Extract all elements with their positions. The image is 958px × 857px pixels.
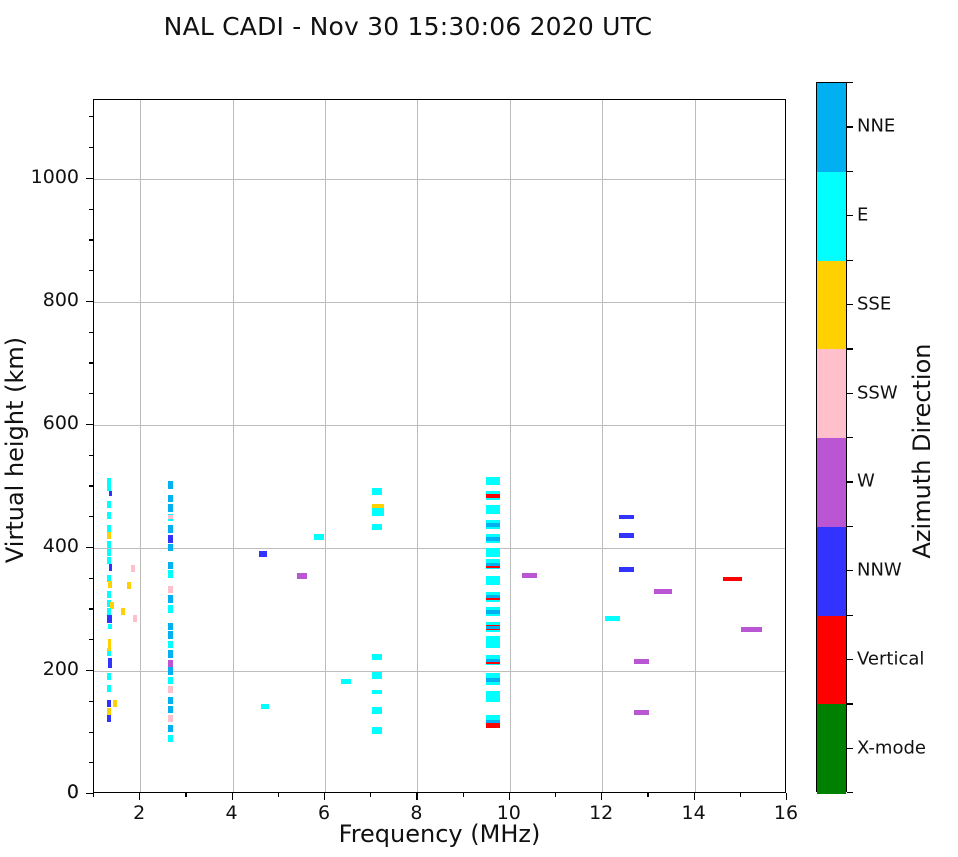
gridline-horizontal [94,179,785,180]
data-mark [107,673,111,680]
data-mark [372,508,384,516]
data-mark [619,533,634,538]
data-mark [723,577,742,581]
colorbar-tick [847,126,853,127]
data-mark [107,615,113,623]
gridline-vertical [602,100,603,792]
colorbar-label: E [857,205,868,226]
gridline-vertical [325,100,326,792]
data-mark [168,677,173,684]
y-tick-minor [89,639,93,640]
data-mark [634,710,649,715]
data-mark [261,704,269,709]
colorbar-segment [817,349,846,438]
data-mark [168,650,173,658]
data-mark [619,515,634,519]
gridline-vertical [233,100,234,792]
data-mark [168,504,173,512]
x-tick [601,793,602,800]
colorbar-label: SSE [857,293,891,314]
x-tick [509,793,510,800]
y-tick-minor [89,608,93,609]
y-tick [86,301,93,302]
x-tick-minor [93,793,94,797]
data-mark [486,537,500,541]
colorbar-tick [847,748,853,749]
colorbar-segment [817,83,846,172]
colorbar-segment [817,438,846,527]
y-tick-label: 600 [43,412,79,434]
data-mark [168,515,173,519]
data-mark [486,626,500,629]
x-tick [324,793,325,800]
data-mark [486,610,500,614]
data-mark [133,615,137,622]
data-mark [619,567,634,572]
colorbar[interactable] [816,82,847,792]
data-mark [486,678,500,682]
data-mark [109,564,113,571]
x-tick-minor [278,793,279,797]
data-mark [107,715,111,722]
x-tick [232,793,233,800]
colorbar-boundary-tick [847,260,853,261]
data-mark [372,654,382,660]
data-mark [259,551,267,557]
colorbar-tick [847,215,853,216]
data-mark [372,488,382,495]
data-mark [486,723,500,728]
y-tick-minor [89,239,93,240]
data-mark [107,512,111,519]
data-mark [168,562,173,569]
data-mark [486,691,500,702]
colorbar-boundary-tick [847,437,853,438]
data-mark [486,548,500,557]
data-mark [486,595,500,598]
colorbar-boundary-tick [847,171,853,172]
colorbar-label: W [857,471,875,492]
data-mark [314,534,324,540]
colorbar-segment [817,616,846,705]
data-mark [486,477,500,485]
x-tick [694,793,695,800]
colorbar-title: Azimuth Direction [908,96,936,806]
y-tick-label: 1000 [31,166,79,188]
data-mark [107,651,111,656]
gridline-horizontal [94,302,785,303]
data-mark [605,616,620,621]
colorbar-boundary-tick [847,348,853,349]
y-tick-minor [89,362,93,363]
y-tick-minor [89,209,93,210]
y-tick-minor [89,393,93,394]
y-axis-title: Virtual height (km) [1,103,29,797]
data-mark [107,549,111,556]
x-tick [786,793,787,800]
data-mark [168,623,173,630]
colorbar-boundary-tick [847,615,853,616]
data-mark [109,491,112,496]
data-mark [168,725,173,732]
colorbar-boundary-tick [847,526,853,527]
data-mark [168,631,173,639]
x-tick-minor [463,793,464,797]
data-mark [372,672,382,679]
y-tick-label: 400 [43,535,79,557]
colorbar-gradient [816,82,847,792]
gridline-horizontal [94,548,785,549]
x-axis-title: Frequency (MHz) [93,820,786,848]
data-mark [741,627,762,632]
x-tick-minor [647,793,648,797]
data-mark [168,586,173,593]
colorbar-boundary-tick [847,703,853,704]
colorbar-segment [817,527,846,616]
colorbar-tick [847,481,853,482]
data-mark [168,641,173,648]
data-mark [486,523,500,527]
data-mark [341,679,351,684]
data-mark [486,494,500,498]
y-tick-minor [89,578,93,579]
y-tick-minor [89,116,93,117]
data-mark [168,544,173,551]
colorbar-segment [817,261,846,350]
y-tick-minor [89,332,93,333]
data-mark [168,605,173,613]
data-mark [634,659,649,664]
y-tick-label-zero: 0 [67,781,79,803]
colorbar-tick [847,304,853,305]
data-mark [522,573,537,578]
data-mark [107,700,111,707]
y-tick-minor [89,701,93,702]
data-mark [108,624,112,629]
gridline-horizontal [94,671,785,672]
data-mark [107,685,111,692]
data-mark [107,541,111,548]
data-mark [168,481,173,489]
data-mark [108,658,112,668]
y-tick-label: 200 [43,658,79,680]
y-tick [86,670,93,671]
data-mark [168,570,173,578]
data-mark [108,581,112,588]
data-mark [168,667,173,675]
data-mark [168,706,173,713]
data-mark [168,595,173,603]
data-mark [131,565,135,572]
gridline-horizontal [94,425,785,426]
colorbar-label: SSW [857,382,898,403]
plot-area[interactable] [93,99,786,793]
data-mark [108,639,111,649]
data-mark [107,591,111,598]
colorbar-tick [847,393,853,394]
data-mark [486,576,500,585]
gridline-vertical [510,100,511,792]
x-tick-minor [185,793,186,797]
colorbar-label: NNE [857,116,895,137]
data-mark [168,525,173,533]
data-mark [113,700,117,707]
x-tick-minor [740,793,741,797]
y-tick-label: 800 [43,289,79,311]
data-mark [168,735,173,742]
x-tick-minor [555,793,556,797]
data-mark [486,505,500,514]
colorbar-label: NNW [857,560,902,581]
data-mark [127,582,131,589]
data-mark [372,707,382,714]
y-tick-minor [89,147,93,148]
data-mark [372,727,382,734]
colorbar-segment [817,172,846,261]
y-tick [86,793,93,794]
data-mark [168,697,173,704]
y-tick-minor [89,516,93,517]
data-mark [372,524,382,530]
y-tick [86,178,93,179]
figure-root: NAL CADI - Nov 30 15:30:06 2020 UTC 0200… [0,0,958,857]
data-mark [486,659,500,662]
colorbar-tick [847,659,853,660]
x-tick [416,793,417,800]
data-mark [107,532,111,539]
colorbar-boundary-tick [847,792,853,793]
data-mark [168,715,173,722]
data-mark [297,573,307,579]
data-mark [168,535,173,543]
page-title: NAL CADI - Nov 30 15:30:06 2020 UTC [0,12,816,41]
y-tick-minor [89,732,93,733]
x-tick [139,793,140,800]
y-tick [86,424,93,425]
gridline-vertical [140,100,141,792]
y-tick-minor [89,485,93,486]
data-mark [107,501,111,508]
data-mark [168,686,173,693]
gridline-vertical [417,100,418,792]
gridline-vertical [695,100,696,792]
y-tick-minor [89,762,93,763]
data-mark [168,495,173,502]
colorbar-tick [847,570,853,571]
data-mark [121,608,125,615]
x-tick-minor [370,793,371,797]
y-tick [86,547,93,548]
colorbar-boundary-tick [847,82,853,83]
data-mark [486,563,500,566]
y-tick-minor [89,270,93,271]
data-mark [486,636,500,648]
y-tick-minor [89,455,93,456]
colorbar-segment [817,704,846,793]
data-mark [654,589,672,594]
data-mark [372,690,382,694]
